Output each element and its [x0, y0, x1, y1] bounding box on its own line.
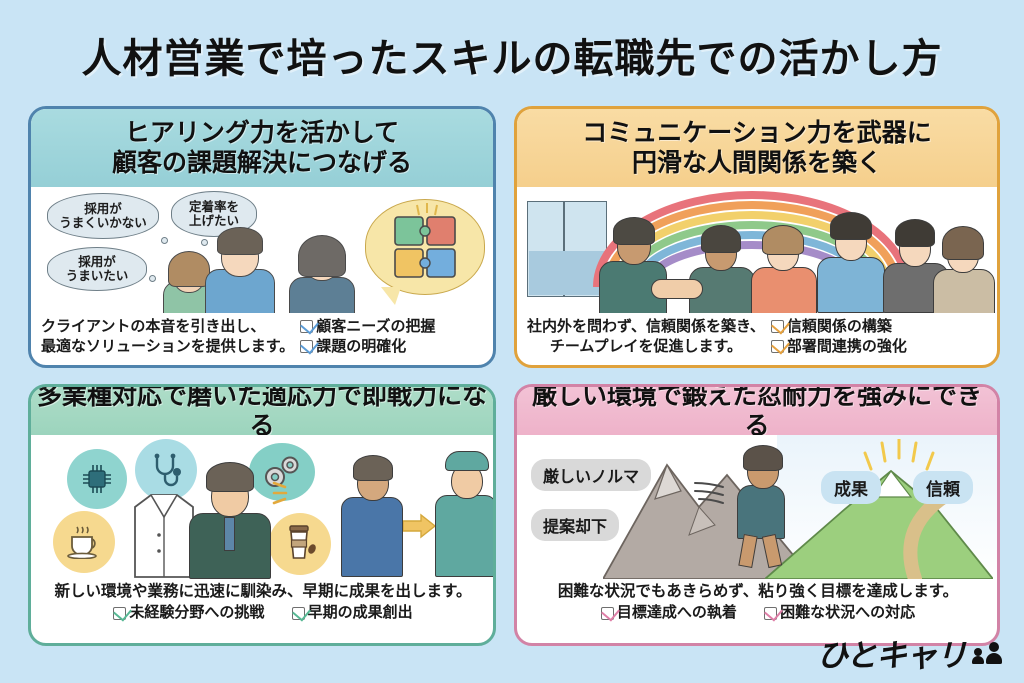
card1-illustration: 採用が うまくいかない 定着率を 上げたい 採用が うまいたい	[31, 187, 493, 313]
card1-bubble-1: 採用が うまくいかない	[47, 193, 159, 239]
card-adaptability-skill: 多業種対応で磨いた適応力で即戦力になる	[28, 384, 496, 646]
stethoscope-icon	[148, 452, 184, 488]
card3-check-1: 早期の成果創出	[292, 603, 413, 623]
card4-description: 困難な状況でもあきらめず、粘り強く目標を達成します。	[527, 581, 989, 601]
card1-footer: クライアントの本音を引き出し、 最適なソリューションを提供します。 顧客ニーズの…	[31, 313, 493, 357]
card2-checklist: 信頼関係の構築 部署間連携の強化	[771, 317, 907, 357]
motion-lines-icon	[693, 479, 727, 505]
card3-businessman	[187, 457, 273, 579]
emphasis-lines-icon	[271, 479, 293, 505]
sun-rays-icon	[861, 439, 937, 475]
card-communication-skill: コミュニケーション力を武器に 円滑な人間関係を築く	[514, 106, 1000, 368]
coffee-cup-icon	[65, 525, 103, 559]
card1-person-man-center	[203, 225, 277, 313]
card4-runner	[729, 443, 795, 567]
person-glyph-large	[986, 642, 1002, 664]
card2-check-0: 信頼関係の構築	[771, 317, 907, 337]
card1-header-line2: 顧客の課題解決につなげる	[112, 148, 412, 178]
card4-label-right-0: 成果	[821, 471, 881, 504]
checkbox-icon	[300, 340, 313, 353]
checkbox-icon	[771, 340, 784, 353]
checkbox-icon	[601, 607, 614, 620]
checkbox-icon	[764, 607, 777, 620]
card2-person-3	[749, 221, 819, 313]
chip-bubble	[67, 449, 127, 509]
card3-worker-after	[431, 445, 493, 577]
handshake-icon	[651, 279, 703, 299]
card3-worker-before	[337, 451, 407, 577]
page-title: 人材営業で培ったスキルの転職先での活かし方	[0, 26, 1024, 84]
card2-description: 社内外を問わず、信頼関係を築き、 チームプレイを促進します。	[527, 317, 765, 357]
card4-label-left-0: 厳しいノルマ	[531, 459, 651, 491]
card1-check-0: 顧客ニーズの把握	[300, 317, 435, 337]
chip-icon	[80, 462, 114, 496]
card2-illustration	[517, 187, 997, 313]
checkbox-icon	[300, 320, 313, 333]
checkbox-icon	[292, 607, 305, 620]
necktie-icon	[224, 517, 235, 551]
person-glyph-small	[972, 648, 984, 664]
card2-person-2	[687, 221, 757, 313]
card2-person-4	[815, 209, 887, 313]
card3-checklist: 未経験分野への挑戦 早期の成果創出	[41, 603, 485, 625]
card4-header: 厳しい環境で鍛えた忍耐力を強みにできる	[517, 387, 997, 435]
runner-leg	[738, 534, 757, 568]
card1-person-woman-right	[287, 231, 357, 313]
card1-checklist: 顧客ニーズの把握 課題の明確化	[300, 317, 435, 357]
card3-illustration	[31, 435, 493, 579]
card4-footer: 困難な状況でもあきらめず、粘り強く目標を達成します。 目標達成への執着 困難な状…	[517, 579, 997, 626]
card2-person-6	[931, 221, 997, 313]
card4-header-line1: 厳しい環境で鍛えた忍耐力を強みにできる	[523, 384, 991, 440]
sparkle-icon	[415, 203, 439, 217]
card1-bubble-1-tail	[161, 237, 168, 244]
card2-header: コミュニケーション力を武器に 円滑な人間関係を築く	[517, 109, 997, 187]
card3-header: 多業種対応で磨いた適応力で即戦力になる	[31, 387, 493, 435]
infographic-page: 人材営業で培ったスキルの転職先での活かし方 ヒアリング力を活かして 顧客の課題解…	[0, 0, 1024, 683]
coffee-togo-bubble	[269, 513, 331, 575]
work-cap-icon	[445, 451, 489, 471]
card3-check-0: 未経験分野への挑戦	[113, 603, 264, 623]
card2-header-line2: 円滑な人間関係を築く	[582, 148, 932, 178]
card1-bubble-3-tail	[149, 275, 156, 282]
card4-label-left-1: 提案却下	[531, 509, 619, 541]
card1-puzzle-bubble-tail	[381, 287, 401, 305]
card3-footer: 新しい環境や業務に迅速に馴染み、早期に成果を出します。 未経験分野への挑戦 早期…	[31, 579, 493, 626]
two-people-icon	[972, 642, 1002, 664]
card1-header-line1: ヒアリング力を活かして	[112, 118, 412, 148]
checkbox-icon	[771, 320, 784, 333]
card4-check-0: 目標達成への執着	[601, 603, 737, 623]
card1-header: ヒアリング力を活かして 顧客の課題解決につなげる	[31, 109, 493, 187]
logo-text: ひとキャリ	[817, 630, 966, 675]
card1-bubble-3: 採用が うまいたい	[47, 247, 147, 291]
card1-check-1: 課題の明確化	[300, 337, 435, 357]
card1-description: クライアントの本音を引き出し、 最適なソリューションを提供します。	[41, 317, 294, 357]
card2-header-line1: コミュニケーション力を武器に	[582, 118, 932, 148]
card2-check-1: 部署間連携の強化	[771, 337, 907, 357]
card3-description: 新しい環境や業務に迅速に馴染み、早期に成果を出します。	[41, 581, 485, 601]
brand-logo: ひとキャリ	[817, 630, 1002, 675]
card-perseverance-skill: 厳しい環境で鍛えた忍耐力を強みにできる	[514, 384, 1000, 646]
coffee-cup-bubble	[53, 511, 115, 573]
card4-illustration: 厳しいノルマ 提案却下 成果 信頼	[517, 435, 997, 579]
card-hearing-skill: ヒアリング力を活かして 顧客の課題解決につなげる 採用が うまくいかない 定着率…	[28, 106, 496, 368]
puzzle-pieces-icon	[393, 215, 457, 279]
card3-header-line1: 多業種対応で磨いた適応力で即戦力になる	[37, 384, 487, 440]
checkbox-icon	[113, 607, 126, 620]
card4-label-right-1: 信頼	[913, 471, 973, 504]
runner-leg	[762, 534, 782, 568]
card2-footer: 社内外を問わず、信頼関係を築き、 チームプレイを促進します。 信頼関係の構築 部…	[517, 313, 997, 357]
card4-checklist: 目標達成への執着 困難な状況への対応	[527, 603, 989, 625]
card4-check-1: 困難な状況への対応	[764, 603, 915, 623]
coffee-togo-icon	[282, 524, 318, 564]
